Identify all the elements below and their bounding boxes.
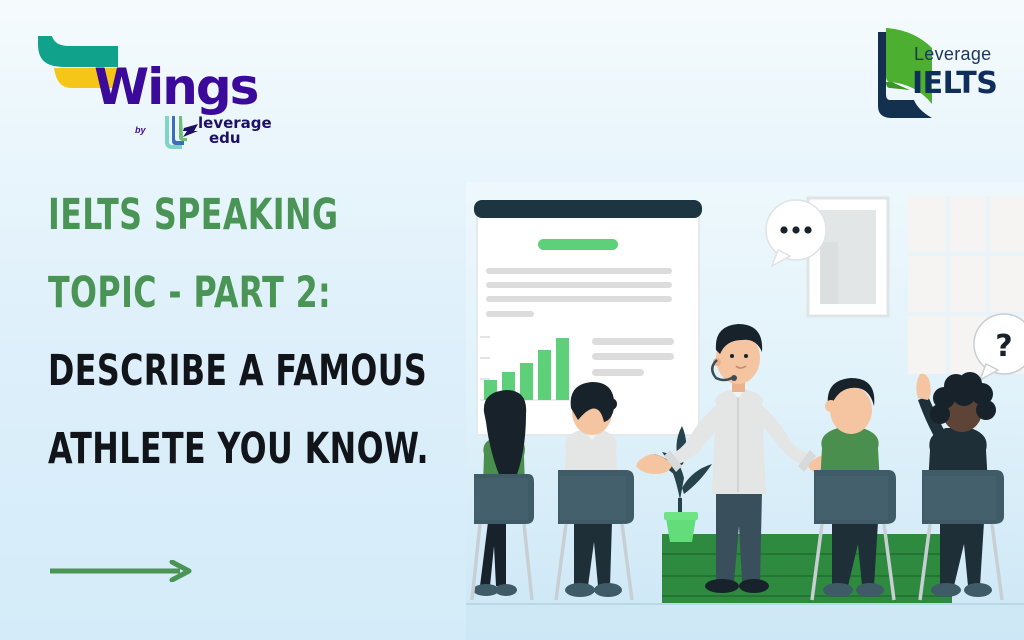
wings-wordmark: Wings	[94, 62, 257, 112]
whiteboard-title-pill	[538, 239, 618, 250]
classroom-presentation-illustration: ?	[466, 182, 1024, 640]
ielts-logo-line2: IELTS	[912, 66, 997, 101]
svg-text:?: ?	[995, 329, 1012, 364]
wings-logo: Wings by leverage edu	[32, 28, 272, 140]
wings-by-label: by	[135, 125, 146, 135]
leverage-edu-book-icon	[160, 114, 200, 152]
headline-line-1: IELTS SPEAKING	[48, 176, 376, 254]
stage-platform	[662, 534, 952, 604]
headline-line-3: DESCRIBE A FAMOUS	[48, 332, 376, 410]
ielts-logo-line1: Leverage	[914, 44, 991, 65]
headline-line-4: ATHLETE YOU KNOW.	[48, 410, 376, 488]
headline-block: IELTS SPEAKING TOPIC - PART 2: DESCRIBE …	[48, 176, 448, 488]
leverage-edu-line2: edu	[209, 131, 272, 146]
whiteboard-top-bar	[474, 200, 702, 218]
leverage-ielts-logo: Leverage IELTS	[870, 26, 1000, 122]
arrow-right-icon	[48, 560, 198, 582]
headline-line-2: TOPIC - PART 2:	[48, 254, 376, 332]
leverage-edu-wordmark: leverage edu	[198, 116, 272, 146]
